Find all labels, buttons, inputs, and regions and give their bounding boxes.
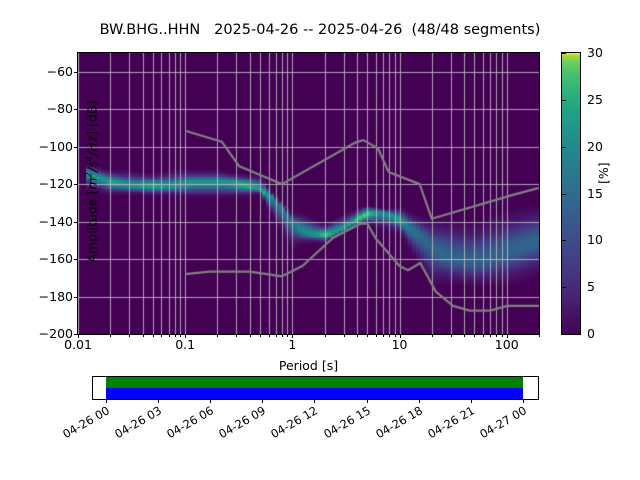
timeline-tick-label: 04-26 06 bbox=[160, 405, 216, 444]
colorbar-tick-label: 15 bbox=[587, 187, 603, 200]
timeline-tick-label: 04-26 15 bbox=[316, 405, 372, 444]
y-tick-label: −180 bbox=[13, 290, 73, 303]
x-tick-label: 100 bbox=[477, 339, 537, 352]
timeline-tick-mark bbox=[367, 399, 368, 403]
timeline-tick-mark bbox=[314, 399, 315, 403]
x-tick-mark-minor bbox=[282, 334, 283, 337]
timeline-tick-label: 04-26 03 bbox=[108, 405, 164, 444]
y-tick-mark bbox=[74, 72, 78, 73]
timeline-tick-mark bbox=[158, 399, 159, 403]
y-tick-mark bbox=[74, 147, 78, 148]
x-tick-mark-minor bbox=[432, 334, 433, 337]
colorbar-tick-label: 20 bbox=[587, 140, 603, 153]
x-tick-mark-minor bbox=[153, 334, 154, 337]
x-tick-mark-minor bbox=[451, 334, 452, 337]
y-tick-label: −80 bbox=[13, 103, 73, 116]
x-tick-mark-minor bbox=[490, 334, 491, 337]
ppsd-plot-axes[interactable]: Amplitude [m2/s4/Hz] [dB] Period [s] −60… bbox=[77, 52, 540, 335]
timeline-tick-mark bbox=[210, 399, 211, 403]
y-tick-mark bbox=[74, 222, 78, 223]
x-tick-mark-minor bbox=[376, 334, 377, 337]
timeline-tick-mark bbox=[523, 399, 524, 403]
x-tick-mark-minor bbox=[269, 334, 270, 337]
timeline-tick-label: 04-26 18 bbox=[368, 405, 424, 444]
x-tick-mark bbox=[78, 334, 79, 338]
x-tick-mark-minor bbox=[276, 334, 277, 337]
timeline-tick-mark bbox=[262, 399, 263, 403]
y-tick-label: −160 bbox=[13, 253, 73, 266]
colorbar-tick-mark bbox=[562, 240, 566, 241]
x-tick-mark-minor bbox=[464, 334, 465, 337]
colorbar-tick-mark bbox=[562, 53, 566, 54]
x-tick-label: 1 bbox=[262, 339, 322, 352]
x-tick-mark-minor bbox=[161, 334, 162, 337]
x-tick-mark-minor bbox=[383, 334, 384, 337]
colorbar-tick-label: 25 bbox=[587, 94, 603, 107]
x-tick-mark-minor bbox=[474, 334, 475, 337]
colorbar-tick-label: 30 bbox=[587, 47, 603, 60]
x-tick-mark bbox=[507, 334, 508, 338]
colorbar-tick-mark bbox=[562, 147, 566, 148]
colorbar[interactable]: [%] 051015202530 bbox=[561, 52, 581, 335]
x-tick-mark-minor bbox=[175, 334, 176, 337]
timeline-tick-label: 04-26 21 bbox=[421, 405, 477, 444]
y-tick-label: −60 bbox=[13, 65, 73, 78]
y-tick-label: −120 bbox=[13, 178, 73, 191]
colorbar-tick-label: 5 bbox=[587, 281, 595, 294]
x-tick-mark-minor bbox=[344, 334, 345, 337]
x-tick-mark bbox=[292, 334, 293, 338]
timeline-tick-label: 04-26 12 bbox=[264, 405, 320, 444]
x-tick-label: 10 bbox=[370, 339, 430, 352]
y-tick-mark bbox=[74, 184, 78, 185]
x-tick-mark-minor bbox=[260, 334, 261, 337]
y-tick-label: −100 bbox=[13, 140, 73, 153]
x-axis-label: Period [s] bbox=[78, 358, 539, 373]
x-tick-mark-minor bbox=[395, 334, 396, 337]
y-tick-mark bbox=[74, 109, 78, 110]
x-tick-mark-minor bbox=[367, 334, 368, 337]
x-tick-mark-minor bbox=[250, 334, 251, 337]
colorbar-tick-mark bbox=[562, 334, 566, 335]
x-tick-mark bbox=[185, 334, 186, 338]
y-tick-mark bbox=[74, 259, 78, 260]
x-tick-mark-minor bbox=[496, 334, 497, 337]
x-tick-mark-minor bbox=[325, 334, 326, 337]
colorbar-tick-mark bbox=[562, 194, 566, 195]
x-tick-mark bbox=[400, 334, 401, 338]
colorbar-tick-mark bbox=[562, 287, 566, 288]
timeline-tick-label: 04-26 09 bbox=[212, 405, 268, 444]
colorbar-label: [%] bbox=[596, 162, 611, 184]
x-tick-mark-minor bbox=[180, 334, 181, 337]
y-tick-mark bbox=[74, 297, 78, 298]
colorbar-tick-label: 0 bbox=[587, 328, 595, 341]
x-tick-mark-minor bbox=[143, 334, 144, 337]
y-tick-label: −140 bbox=[13, 215, 73, 228]
x-tick-mark-minor bbox=[287, 334, 288, 337]
timeline-tick-mark bbox=[419, 399, 420, 403]
coverage-bar-green bbox=[106, 377, 523, 388]
colorbar-tick-mark bbox=[562, 100, 566, 101]
timeline-tick-mark bbox=[471, 399, 472, 403]
colorbar-tick-label: 10 bbox=[587, 234, 603, 247]
x-tick-mark-minor bbox=[502, 334, 503, 337]
x-tick-mark-minor bbox=[169, 334, 170, 337]
x-tick-mark-minor bbox=[483, 334, 484, 337]
x-tick-mark-minor bbox=[389, 334, 390, 337]
x-tick-mark-minor bbox=[539, 334, 540, 337]
y-axis-label: Amplitude [m2/s4/Hz] [dB] bbox=[84, 0, 99, 382]
timeline-tick-label: 04-27 00 bbox=[473, 405, 529, 444]
x-tick-mark-minor bbox=[110, 334, 111, 337]
coverage-bar-blue bbox=[106, 388, 523, 399]
timeline-tick-label: 04-26 00 bbox=[56, 405, 112, 444]
coverage-timeline-axes[interactable]: 04-26 0004-26 0304-26 0604-26 0904-26 12… bbox=[92, 376, 539, 400]
x-tick-label: 0.1 bbox=[155, 339, 215, 352]
x-tick-mark-minor bbox=[129, 334, 130, 337]
x-tick-mark-minor bbox=[217, 334, 218, 337]
timeline-tick-mark bbox=[106, 399, 107, 403]
x-tick-mark-minor bbox=[236, 334, 237, 337]
x-tick-label: 0.01 bbox=[48, 339, 108, 352]
x-tick-mark-minor bbox=[357, 334, 358, 337]
ppsd-density-canvas bbox=[78, 53, 539, 334]
